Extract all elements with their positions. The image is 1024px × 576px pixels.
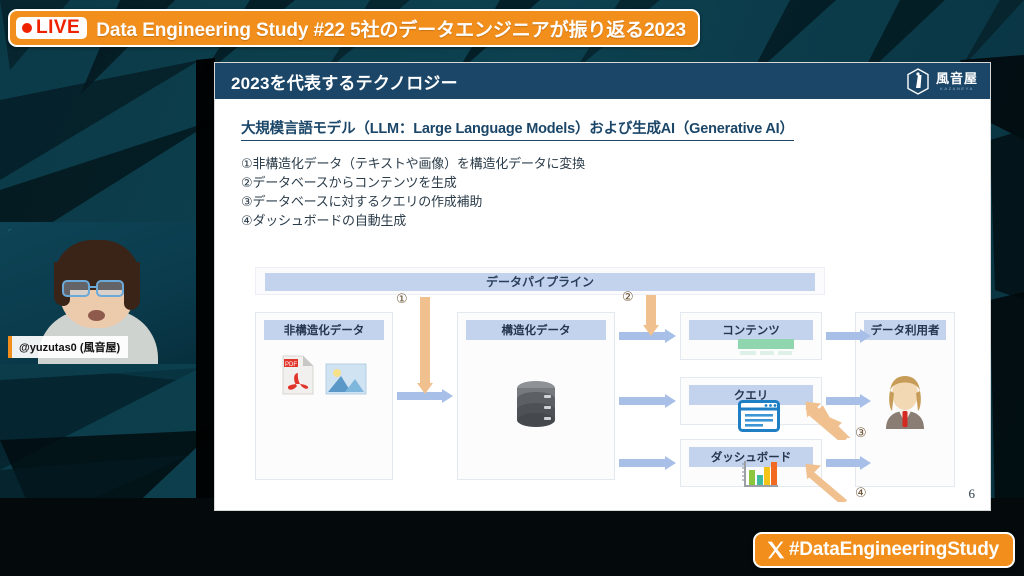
- node-header: 構造化データ: [466, 320, 606, 340]
- bullet-item: ②データベースからコンテンツを生成: [241, 173, 970, 192]
- node-label: 構造化データ: [502, 322, 571, 338]
- database-icon: [511, 379, 561, 427]
- marker-3-label: ③: [855, 425, 867, 441]
- hashtag-label: #DataEngineeringStudy: [789, 539, 999, 561]
- pipeline-band: データパイプライン: [255, 267, 825, 295]
- logo-romaji-text: KAZANEYA: [940, 87, 974, 91]
- webcam-name-label: @yuzutas0 (風音屋): [8, 336, 128, 358]
- query-window-icon: [738, 400, 780, 432]
- slide-body: 大規模言語モデル（LLM：Large Language Models）および生成…: [215, 99, 990, 510]
- webcam-overlay[interactable]: ⌐ @yuzutas0 (風音屋): [0, 222, 196, 364]
- stream-title-bar: LIVE Data Engineering Study #22 5社のデータエン…: [8, 9, 700, 47]
- bullet-item: ④ダッシュボードの自動生成: [241, 211, 970, 230]
- node-label: 非構造化データ: [284, 322, 365, 338]
- arrow-marker-1: [417, 297, 433, 395]
- live-badge-label: LIVE: [36, 18, 80, 37]
- image-file-icon: [325, 363, 367, 395]
- node-header: コンテンツ: [689, 320, 813, 340]
- arrow-marker-3: [800, 400, 856, 440]
- webcam-corner-mark: ⌐: [8, 227, 12, 234]
- slide-bullet-list: ①非構造化データ（テキストや画像）を構造化データに変換 ②データベースからコンテ…: [241, 154, 970, 230]
- node-header: 非構造化データ: [264, 320, 384, 340]
- live-dot-icon: [22, 23, 32, 33]
- marker-4-label: ④: [855, 485, 867, 501]
- bar-chart-icon: [738, 459, 780, 489]
- node-header: データ利用者: [864, 320, 946, 340]
- slide-header: 2023を代表するテクノロジー 風音屋 KAZANEYA: [215, 63, 990, 99]
- hexagon-logo-icon: [906, 68, 930, 95]
- presentation-slide: 2023を代表するテクノロジー 風音屋 KAZANEYA 大規模言語モデル（LL…: [215, 63, 990, 510]
- arrow-marker-4: [800, 462, 856, 502]
- stream-stage: LIVE Data Engineering Study #22 5社のデータエン…: [0, 0, 1024, 576]
- pipeline-diagram: データパイプライン 非構造化データ PDF: [255, 267, 955, 497]
- arrow-marker-2: [643, 295, 659, 337]
- logo-text-block: 風音屋 KAZANEYA: [936, 72, 978, 91]
- pipeline-label: データパイプライン: [486, 273, 594, 290]
- node-label: コンテンツ: [722, 322, 780, 338]
- stream-title-text: Data Engineering Study #22 5社のデータエンジニアが振…: [96, 15, 686, 42]
- pdf-file-icon: PDF: [281, 355, 315, 395]
- node-label: データ利用者: [871, 322, 940, 338]
- node-unstructured-data: 非構造化データ: [255, 312, 393, 480]
- bullet-item: ③データベースに対するクエリの作成補助: [241, 192, 970, 211]
- arrow-structured-to-query: [619, 394, 676, 408]
- svg-text:PDF: PDF: [285, 362, 297, 368]
- kazaneya-logo: 風音屋 KAZANEYA: [906, 68, 978, 95]
- webcam-glasses-left: [62, 280, 90, 297]
- slide-page-number: 6: [969, 486, 976, 502]
- live-badge: LIVE: [16, 17, 87, 39]
- marker-2-label: ②: [622, 289, 634, 305]
- webcam-glasses-right: [96, 280, 124, 297]
- document-content-icon: [738, 339, 794, 357]
- person-avatar-icon: [880, 373, 930, 429]
- webcam-person-mouth: [88, 310, 105, 321]
- webcam-person-hair-right: [124, 262, 140, 310]
- hashtag-banner: #DataEngineeringStudy: [753, 532, 1015, 568]
- marker-1-label: ①: [396, 291, 408, 307]
- webcam-glasses-bridge: [90, 286, 96, 288]
- arrow-structured-to-dashboard: [619, 456, 676, 470]
- bullet-item: ①非構造化データ（テキストや画像）を構造化データに変換: [241, 154, 970, 173]
- x-logo-icon: [766, 540, 786, 560]
- arrow-content-to-user: [826, 329, 871, 343]
- slide-headline: 大規模言語モデル（LLM：Large Language Models）および生成…: [241, 117, 794, 141]
- slide-title: 2023を代表するテクノロジー: [231, 69, 458, 94]
- logo-japanese-text: 風音屋: [936, 72, 978, 85]
